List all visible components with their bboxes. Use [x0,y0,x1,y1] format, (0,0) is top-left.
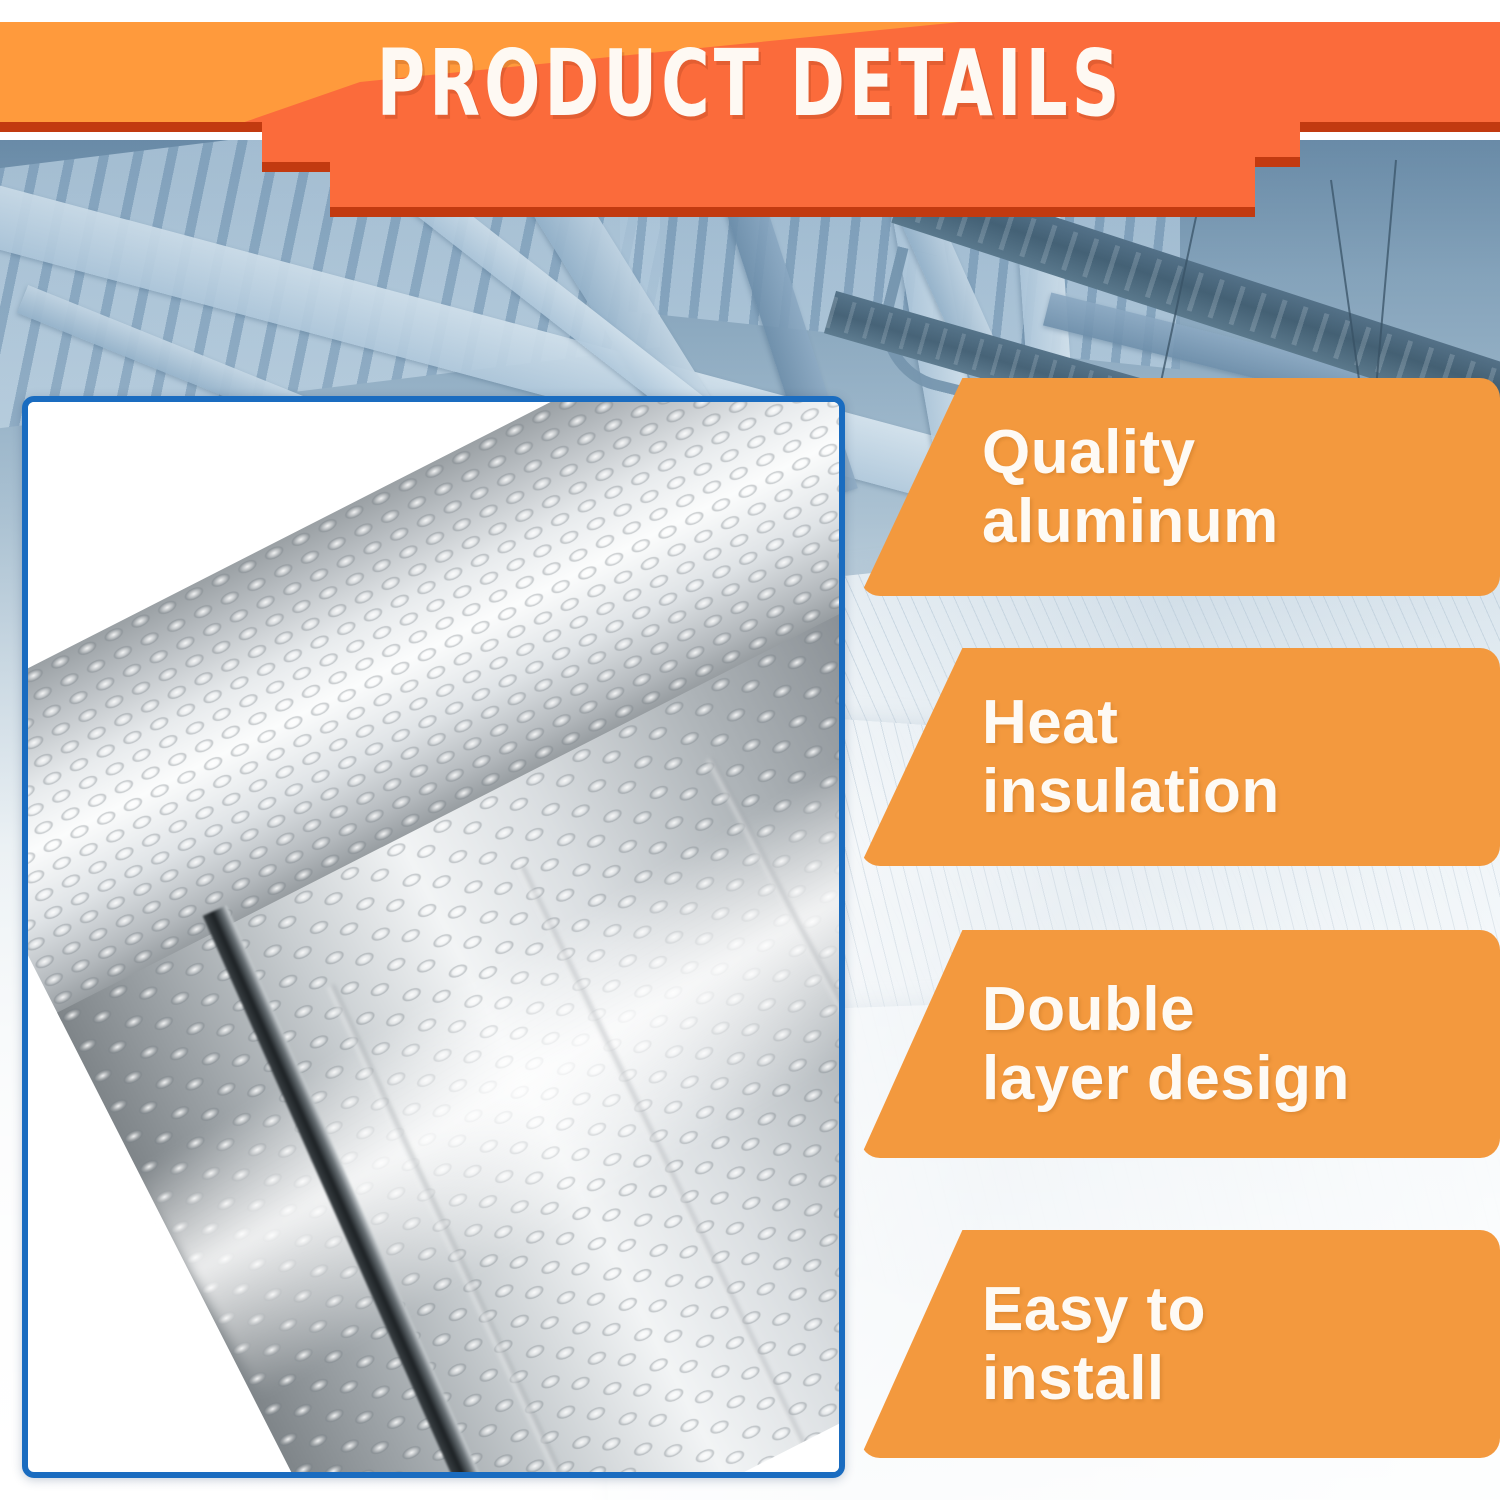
callout-label: Easy to install [982,1275,1206,1414]
callout-label: Heat insulation [982,688,1280,827]
product-details-infographic: PRODUCT DETAILS Quality aluminum Heat in [0,0,1500,1500]
product-photo-inset [22,396,845,1478]
callout-quality-aluminum[interactable]: Quality aluminum [860,378,1500,596]
callout-double-layer-design[interactable]: Double layer design [860,930,1500,1158]
callout-easy-to-install[interactable]: Easy to install [860,1230,1500,1458]
callout-heat-insulation[interactable]: Heat insulation [860,648,1500,866]
callout-label: Double layer design [982,975,1350,1114]
callout-label: Quality aluminum [982,418,1279,557]
page-title: PRODUCT DETAILS [150,22,1350,144]
